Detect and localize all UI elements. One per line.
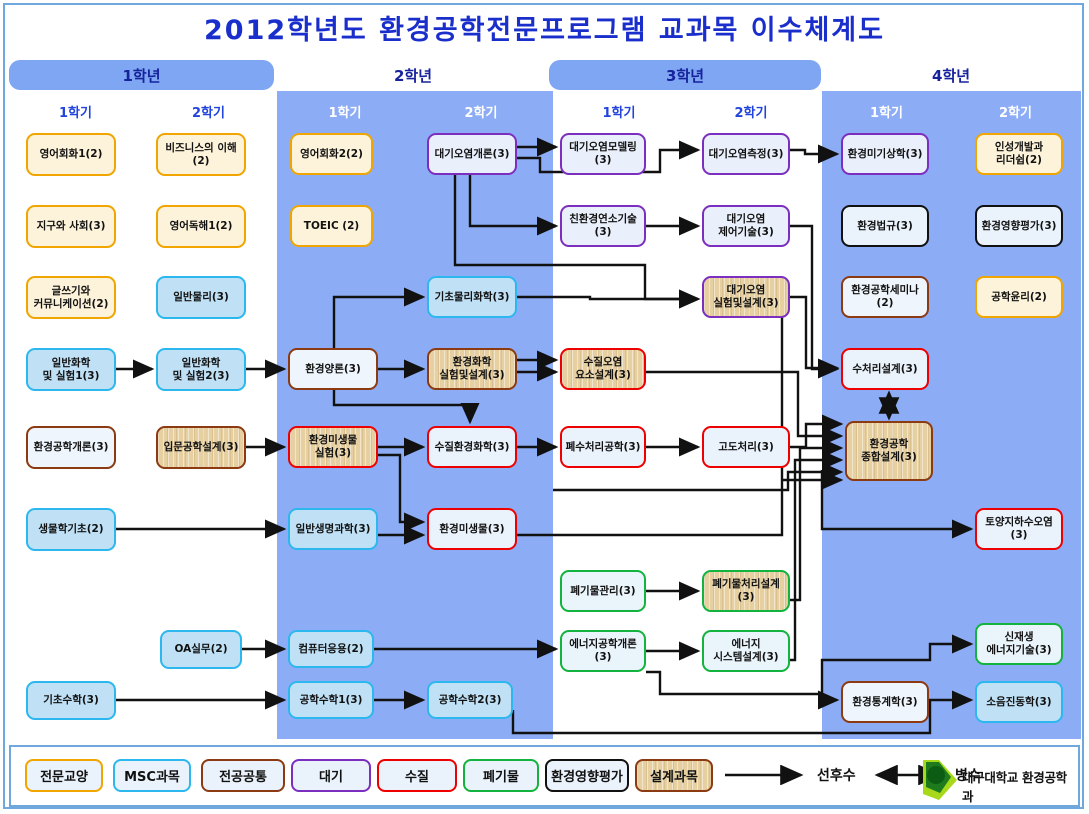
course-box[interactable]: 글쓰기와커뮤니케이션(2) — [26, 276, 116, 319]
semester-3-1: 1학기 — [553, 99, 685, 123]
course-box[interactable]: OA실무(2) — [160, 630, 242, 669]
course-box[interactable]: 수처리설계(3) — [841, 348, 929, 390]
course-box[interactable]: TOEIC (2) — [290, 205, 373, 247]
course-box[interactable]: 환경공학세미나(2) — [841, 276, 929, 318]
course-box[interactable]: 신재생에너지기술(3) — [975, 623, 1063, 665]
year-header-2: 2학년 — [277, 60, 549, 90]
course-box[interactable]: 환경화학실험및설계(3) — [427, 348, 517, 390]
course-box[interactable]: 폐기물관리(3) — [560, 570, 646, 612]
semester-4-2: 2학기 — [951, 99, 1080, 123]
course-box[interactable]: 에너지시스템설계(3) — [702, 630, 790, 672]
legend-item[interactable]: 전문교양 — [25, 759, 103, 792]
year-header-1: 1학년 — [9, 60, 274, 90]
semester-label: 1학기 — [329, 102, 362, 121]
course-box[interactable]: 공학윤리(2) — [975, 276, 1063, 318]
course-box[interactable]: 환경미생물실험(3) — [288, 426, 378, 468]
course-box[interactable]: 환경통계학(3) — [841, 681, 929, 723]
year-label: 4학년 — [932, 65, 970, 86]
semester-label: 1학기 — [870, 102, 903, 121]
course-box[interactable]: 환경공학종합설계(3) — [845, 421, 933, 481]
course-box[interactable]: 공학수학2(3) — [427, 681, 513, 719]
semester-label: 2학기 — [465, 102, 498, 121]
course-box[interactable]: 영어회화1(2) — [26, 133, 116, 176]
year-label: 3학년 — [666, 65, 704, 86]
prereq-label: 선후수 — [817, 765, 856, 785]
course-box[interactable]: 대기오염실험및설계(3) — [702, 276, 790, 318]
course-box[interactable]: 대기오염측정(3) — [702, 133, 790, 175]
course-box[interactable]: 기초물리화학(3) — [427, 276, 517, 318]
prereq-arrow-icon — [723, 765, 813, 785]
legend-item[interactable]: 대기 — [291, 759, 371, 792]
year-label: 1학년 — [122, 65, 160, 86]
semester-2-1: 1학기 — [277, 99, 413, 123]
course-box[interactable]: 공학수학1(3) — [288, 681, 374, 719]
course-box[interactable]: 대기오염모델링(3) — [560, 133, 646, 175]
university-logo-icon — [917, 754, 963, 800]
semester-label: 2학기 — [999, 102, 1032, 121]
course-box[interactable]: 컴퓨터응용(2) — [288, 630, 374, 668]
course-box[interactable]: 생물학기초(2) — [26, 508, 116, 551]
year-header-3: 3학년 — [549, 60, 821, 90]
course-box[interactable]: 대기오염제어기술(3) — [702, 205, 790, 247]
course-box[interactable]: 수질환경화학(3) — [427, 426, 517, 468]
curriculum-flowchart: 2012학년도 환경공학전문프로그램 교과목 이수체계도 1학년 2학년 3학년… — [0, 0, 1089, 814]
semester-1-2: 2학기 — [142, 99, 275, 123]
semester-4-1: 1학기 — [822, 99, 951, 123]
course-box[interactable]: 대기오염개론(3) — [427, 133, 517, 175]
legend-item[interactable]: 설계과목 — [635, 759, 713, 792]
legend-item[interactable]: 폐기물 — [463, 759, 539, 792]
semester-label: 2학기 — [192, 102, 225, 121]
organization-label: 대구대학교 환경공학과 — [962, 767, 1078, 805]
course-box[interactable]: 환경법규(3) — [841, 205, 929, 247]
course-box[interactable]: 환경미생물(3) — [427, 508, 517, 550]
legend-item[interactable]: 환경영향평가 — [545, 759, 629, 792]
course-box[interactable]: 인성개발과리더쉽(2) — [975, 133, 1063, 175]
semester-label: 1학기 — [603, 102, 636, 121]
course-box[interactable]: 비즈니스의 이해(2) — [156, 133, 246, 176]
page-title: 2012학년도 환경공학전문프로그램 교과목 이수체계도 — [0, 8, 1089, 47]
year-label: 2학년 — [394, 65, 432, 86]
course-box[interactable]: 친환경연소기술(3) — [560, 205, 646, 247]
course-box[interactable]: 고도처리(3) — [702, 426, 790, 468]
semester-label: 1학기 — [59, 102, 92, 121]
course-box[interactable]: 영어회화2(2) — [290, 133, 373, 175]
course-box[interactable]: 환경영향평가(3) — [975, 205, 1063, 247]
legend-item[interactable]: MSC과목 — [113, 759, 191, 792]
course-box[interactable]: 일반물리(3) — [156, 276, 246, 319]
course-box[interactable]: 일반화학및 실험1(3) — [26, 348, 116, 391]
legend: 전문교양MSC과목전공공통대기수질폐기물환경영향평가설계과목 선후수 병수 대구… — [9, 745, 1080, 807]
course-box[interactable]: 소음진동학(3) — [975, 681, 1063, 723]
course-box[interactable]: 기초수학(3) — [26, 681, 116, 720]
semester-2-2: 2학기 — [413, 99, 549, 123]
course-box[interactable]: 일반생명과학(3) — [288, 508, 378, 550]
legend-item[interactable]: 수질 — [377, 759, 457, 792]
course-box[interactable]: 환경공학개론(3) — [26, 426, 116, 469]
course-box[interactable]: 토양지하수오염(3) — [975, 508, 1063, 550]
course-box[interactable]: 입문공학설계(3) — [156, 426, 246, 469]
legend-item[interactable]: 전공공통 — [201, 759, 285, 792]
semester-label: 2학기 — [735, 102, 768, 121]
course-box[interactable]: 환경미기상학(3) — [841, 133, 929, 175]
semester-3-2: 2학기 — [685, 99, 817, 123]
course-box[interactable]: 영어독해1(2) — [156, 205, 246, 248]
semester-1-1: 1학기 — [9, 99, 142, 123]
course-box[interactable]: 폐수처리공학(3) — [560, 426, 646, 468]
year-header-4: 4학년 — [822, 60, 1080, 90]
course-box[interactable]: 일반화학및 실험2(3) — [156, 348, 246, 391]
course-box[interactable]: 폐기물처리설계(3) — [702, 570, 790, 612]
course-box[interactable]: 에너지공학개론(3) — [560, 630, 646, 672]
course-box[interactable]: 환경양론(3) — [288, 348, 378, 390]
course-box[interactable]: 수질오염요소설계(3) — [560, 348, 646, 390]
course-box[interactable]: 지구와 사회(3) — [26, 205, 116, 248]
